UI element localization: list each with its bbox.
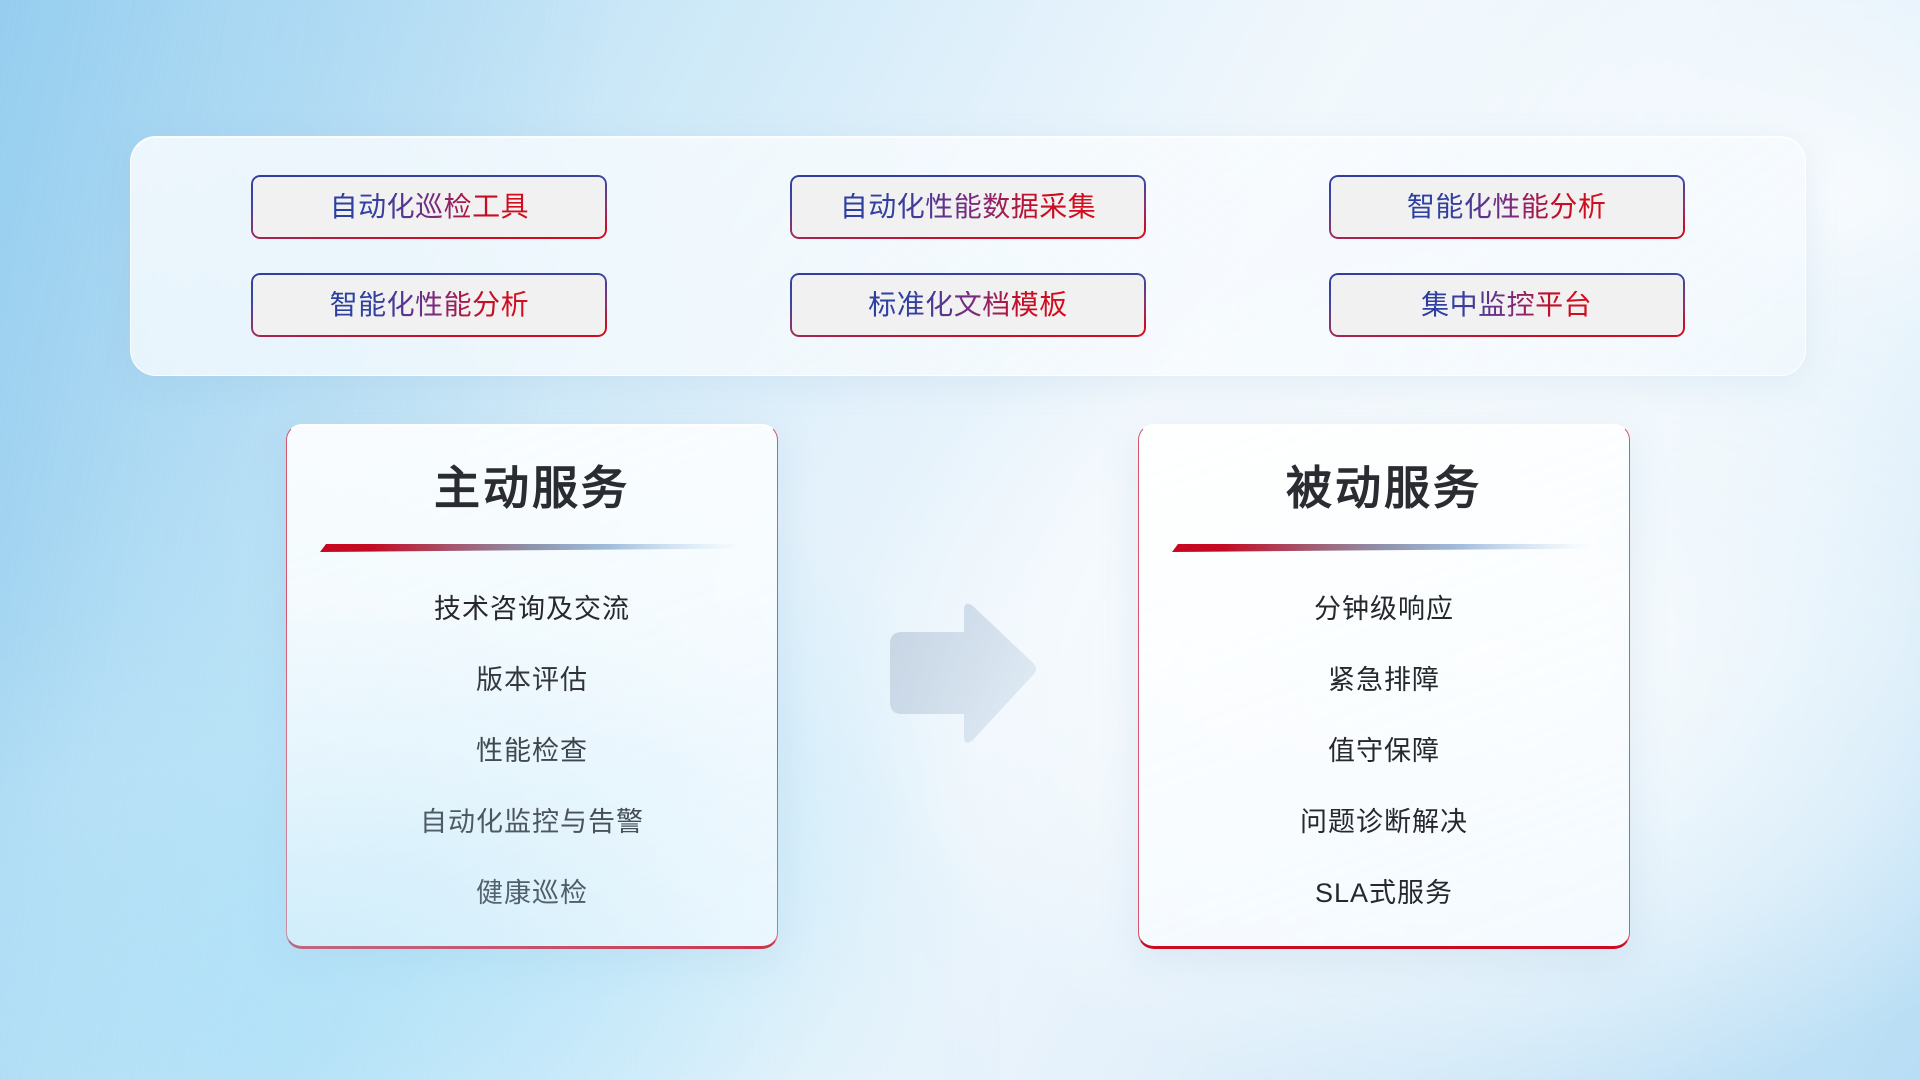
capability-pill[interactable]: 智能化性能分析 bbox=[1329, 175, 1685, 239]
capability-pill[interactable]: 自动化性能数据采集 bbox=[790, 175, 1146, 239]
service-list-item[interactable]: 自动化监控与告警 bbox=[420, 795, 644, 850]
service-list-item[interactable]: 紧急排障 bbox=[1328, 653, 1440, 708]
capability-pill[interactable]: 自动化巡检工具 bbox=[251, 175, 607, 239]
service-card-proactive: 主动服务 技术咨询及交流 版本评估 bbox=[286, 424, 778, 949]
service-item-list: 分钟级响应 紧急排障 值守保障 问题诊断解决 SLA式服务 bbox=[1139, 582, 1629, 921]
capability-pill-label: 集中监控平台 bbox=[1421, 291, 1592, 319]
service-card-title: 被动服务 bbox=[1286, 463, 1482, 514]
service-list-item[interactable]: 问题诊断解决 bbox=[1300, 795, 1468, 850]
service-item-list: 技术咨询及交流 版本评估 性能检查 自动化监控与告警 健康巡检 bbox=[287, 582, 777, 921]
capability-pill[interactable]: 集中监控平台 bbox=[1329, 273, 1685, 337]
capability-pill[interactable]: 智能化性能分析 bbox=[251, 273, 607, 337]
service-card-reactive: 被动服务 分钟级响应 紧急排障 bbox=[1138, 424, 1630, 949]
capabilities-panel: 自动化巡检工具 自动化性能数据采集 智能化性能分析 智能化性能分析 标准化文档模… bbox=[130, 136, 1806, 376]
title-divider bbox=[320, 540, 744, 554]
service-list-item[interactable]: 健康巡检 bbox=[476, 866, 588, 921]
service-card-title: 主动服务 bbox=[434, 463, 630, 514]
title-divider bbox=[1172, 540, 1596, 554]
slide-canvas: 自动化巡检工具 自动化性能数据采集 智能化性能分析 智能化性能分析 标准化文档模… bbox=[0, 0, 1920, 1080]
service-list-item[interactable]: 值守保障 bbox=[1328, 724, 1440, 779]
service-list-item[interactable]: 性能检查 bbox=[476, 724, 588, 779]
service-list-item[interactable]: 技术咨询及交流 bbox=[434, 582, 630, 637]
capability-pill[interactable]: 标准化文档模板 bbox=[790, 273, 1146, 337]
capability-pill-label: 智能化性能分析 bbox=[330, 291, 530, 319]
capability-pill-label: 自动化巡检工具 bbox=[330, 193, 530, 221]
service-list-item[interactable]: 分钟级响应 bbox=[1314, 582, 1454, 637]
service-list-item[interactable]: 版本评估 bbox=[476, 653, 588, 708]
service-list-item[interactable]: SLA式服务 bbox=[1315, 866, 1453, 921]
arrow-right-icon bbox=[880, 598, 1040, 748]
capability-pill-label: 标准化文档模板 bbox=[868, 291, 1068, 319]
capability-pill-label: 自动化性能数据采集 bbox=[840, 193, 1097, 221]
capability-pill-label: 智能化性能分析 bbox=[1407, 193, 1607, 221]
